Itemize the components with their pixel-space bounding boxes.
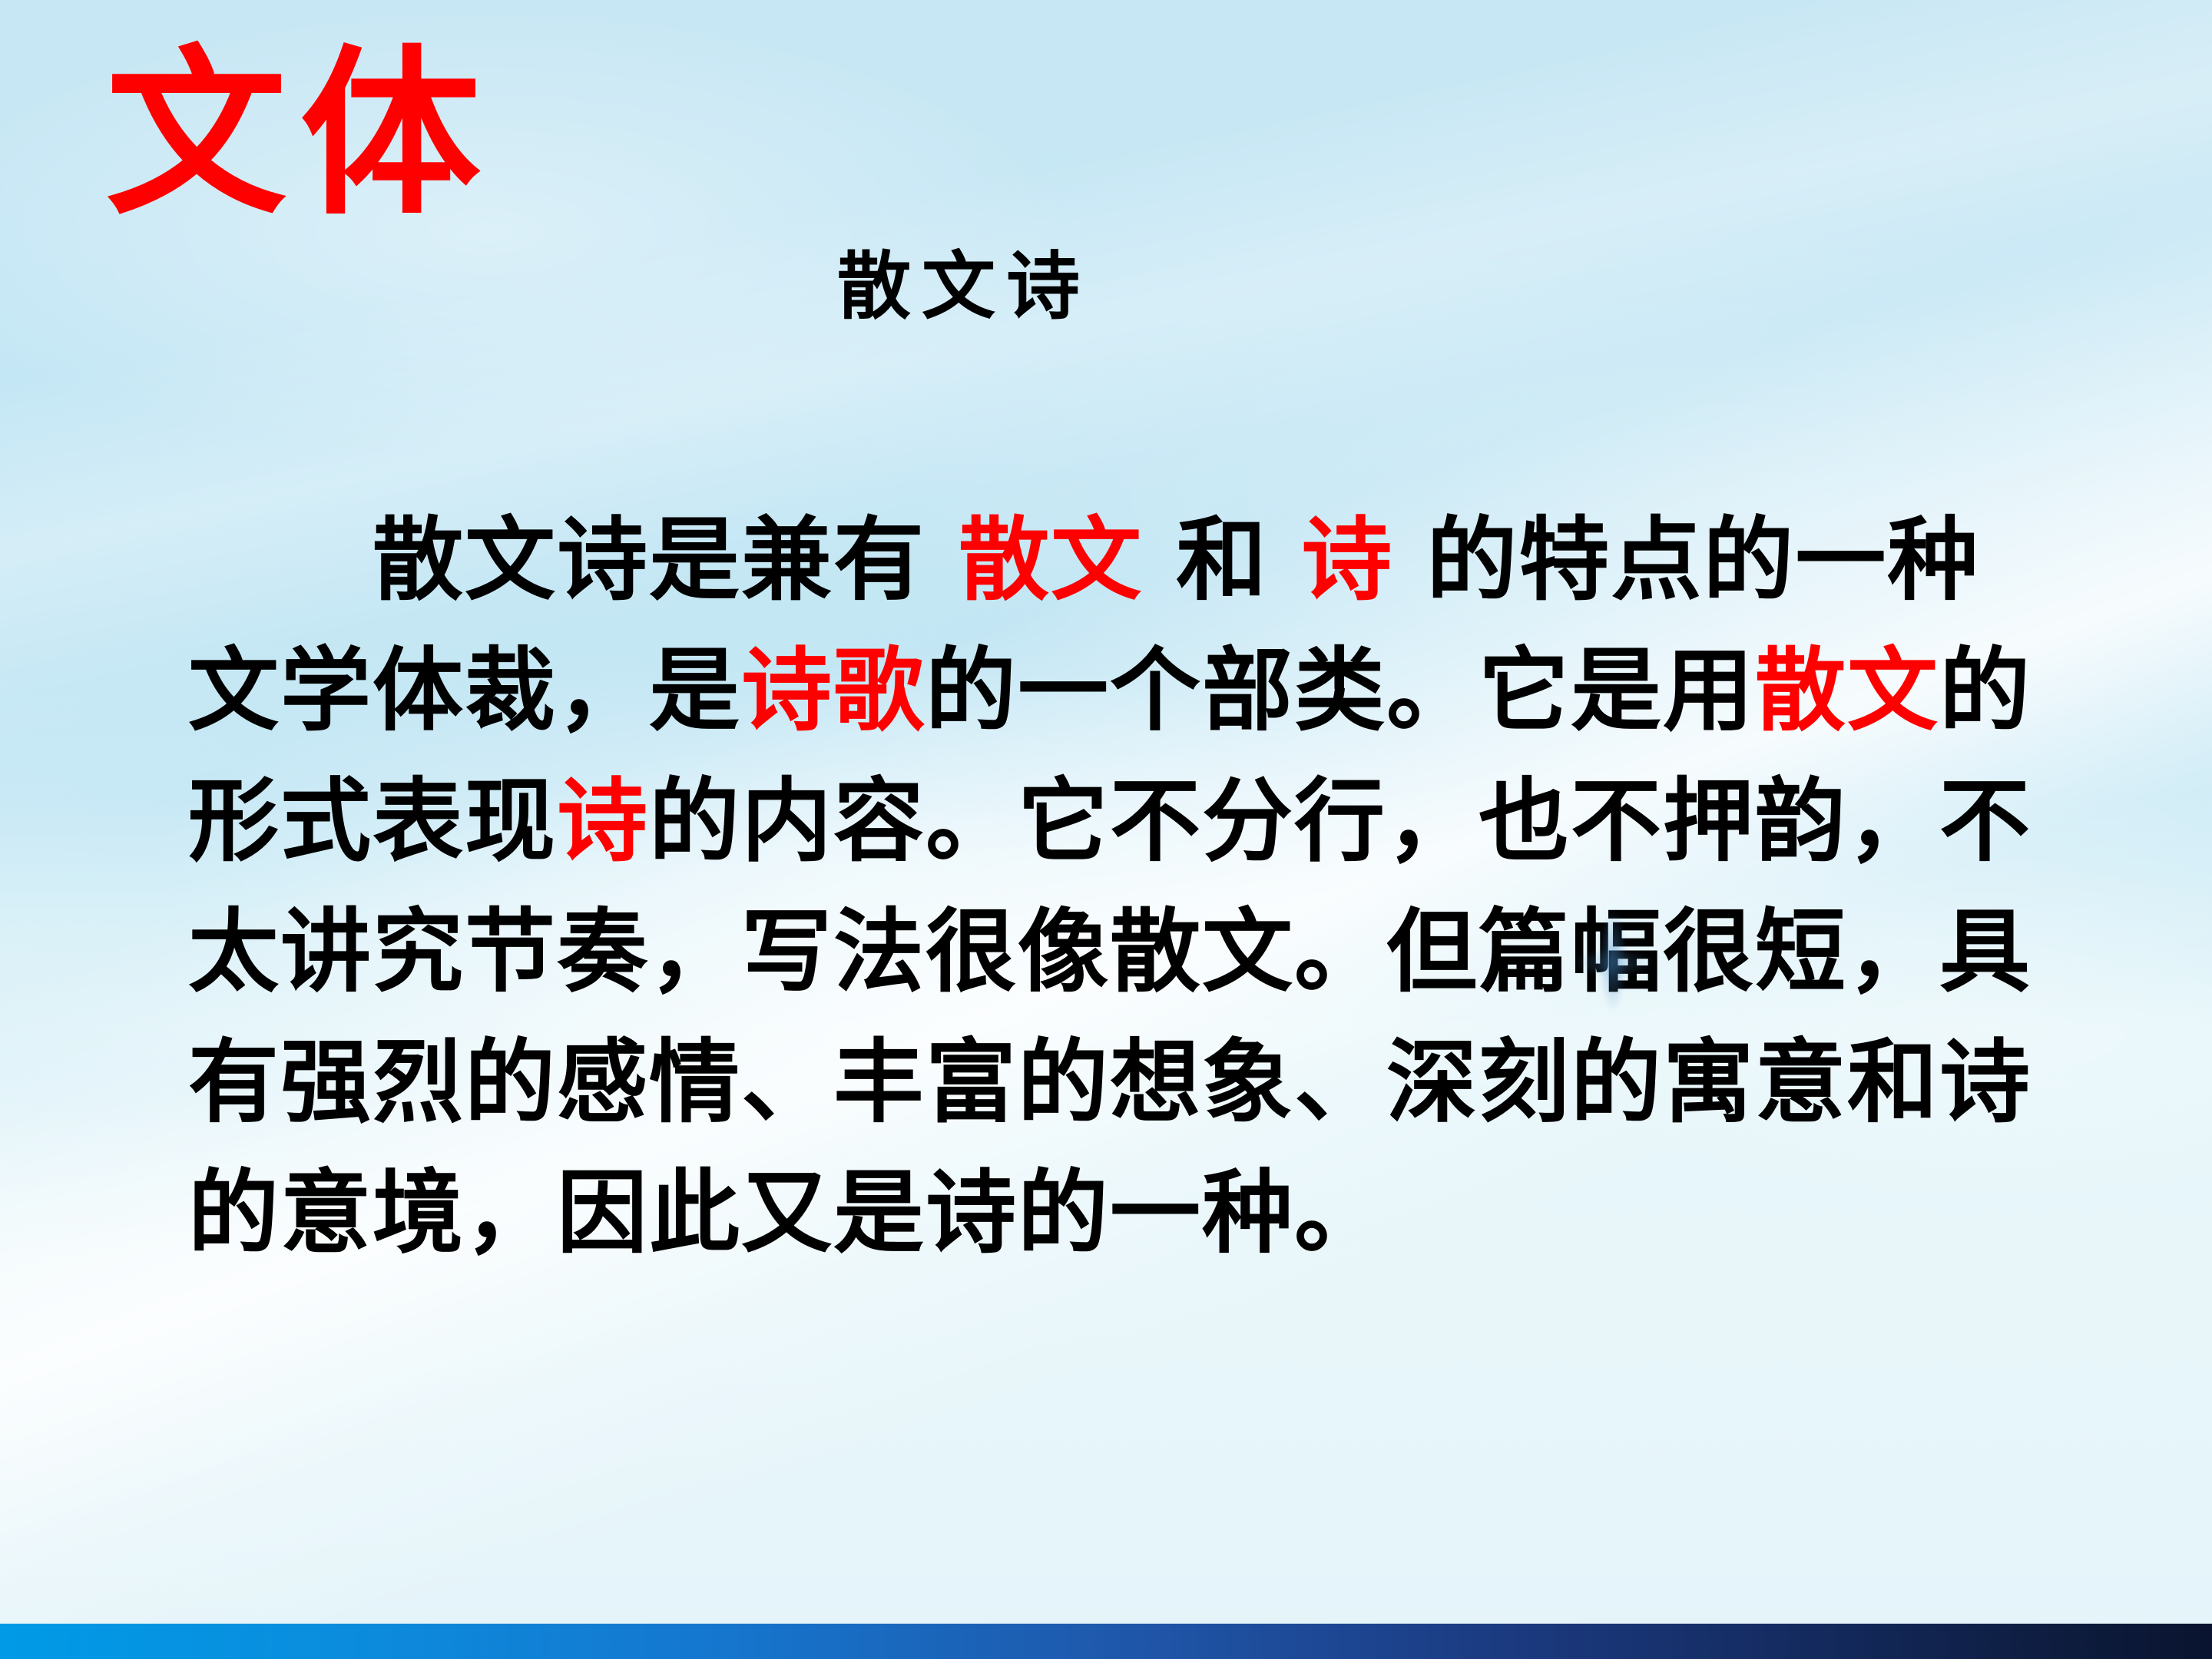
body-text-highlight: 散文 — [1755, 637, 1939, 743]
slide-accent-bar — [0, 1624, 2212, 1659]
body-text-highlight: 诗歌 — [741, 637, 926, 743]
body-text-highlight: 诗 — [1301, 507, 1393, 613]
body-text-run: 和 — [1143, 507, 1301, 613]
body-text-highlight: 散文 — [959, 507, 1143, 613]
slide-subtitle: 散文诗 — [837, 250, 1091, 323]
body-text-run: 的一个部类。它是用 — [926, 637, 1755, 743]
body-text-highlight: 诗 — [557, 768, 649, 874]
presentation-slide: 文体 散文诗 散文诗是兼有 散文 和 诗 的特点的一种文学体裁，是诗歌的一个部类… — [0, 0, 2212, 1659]
slide-body-paragraph: 散文诗是兼有 散文 和 诗 的特点的一种文学体裁，是诗歌的一个部类。它是用散文的… — [188, 495, 2055, 1278]
body-text-run: 散文诗是兼有 — [188, 507, 959, 613]
slide-title: 文体 — [106, 45, 495, 225]
